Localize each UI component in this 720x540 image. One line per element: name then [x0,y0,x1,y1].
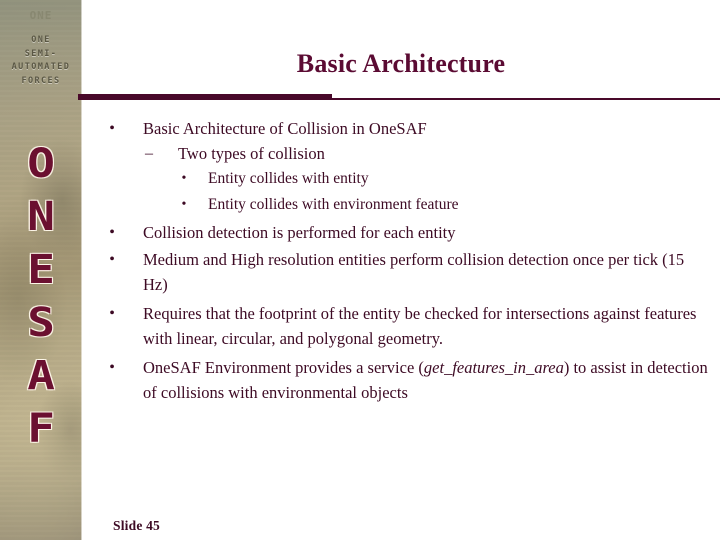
bullet-marker: • [106,220,118,245]
onesaf-vertical-wordmark: O N E S A F [0,138,82,456]
slide-canvas: one One Semi- Automated Forces O N E S A… [0,0,720,540]
vertical-letter-e: E [27,244,55,297]
dash-marker: – [142,141,156,166]
sidebar-decoration: one One Semi- Automated Forces O N E S A… [0,0,82,540]
bullet-text: Collision detection is performed for eac… [143,223,456,242]
bullet-text-before: OneSAF Environment provides a service ( [143,358,424,377]
vertical-letter-a: A [27,350,55,403]
vertical-letter-f: F [27,403,55,456]
bullet-level1-environment-service: • OneSAF Environment provides a service … [82,355,712,405]
sidebar-ghost-watermark: one [4,8,78,23]
bullet-marker: • [178,192,190,218]
bullet-marker: • [106,247,118,272]
bullet-text: Medium and High resolution entities perf… [143,250,684,294]
bullet-level2-two-types: – Two types of collision [82,141,712,166]
bullet-text: Requires that the footprint of the entit… [143,304,696,348]
bullet-level1-architecture: • Basic Architecture of Collision in One… [82,116,712,141]
bullet-text: Two types of collision [178,144,325,163]
bullet-level3-entity-environment: • Entity collides with environment featu… [82,192,712,218]
slide-number-footer: Slide 45 [113,518,160,534]
bullet-text: Entity collides with entity [208,170,369,187]
page-title: Basic Architecture [82,48,720,80]
bullet-level1-footprint-intersections: • Requires that the footprint of the ent… [82,301,712,351]
bullet-level1-medium-high-resolution: • Medium and High resolution entities pe… [82,247,712,297]
logo-line-automated: Automated [2,61,80,75]
bullet-marker: • [178,166,190,192]
title-underline-thick [78,94,332,100]
logo-line-semi: Semi- [2,48,80,62]
vertical-letter-n: N [27,191,55,244]
bullet-marker: • [106,355,118,380]
bullet-marker: • [106,301,118,326]
logo-line-one: One [2,34,80,48]
bullet-text: Basic Architecture of Collision in OneSA… [143,119,427,138]
bullet-level1-collision-detection: • Collision detection is performed for e… [82,220,712,245]
bullet-text: Entity collides with environment feature [208,196,459,213]
vertical-letter-o: O [27,138,55,191]
logo-line-forces: Forces [2,75,80,89]
bullet-marker: • [106,116,118,141]
bullet-level3-entity-entity: • Entity collides with entity [82,166,712,192]
slide-body: • Basic Architecture of Collision in One… [82,116,712,405]
onesaf-stencil-logo: One Semi- Automated Forces [2,34,80,88]
vertical-letter-s: S [27,297,55,350]
service-name-italic: get_features_in_area [424,358,564,377]
